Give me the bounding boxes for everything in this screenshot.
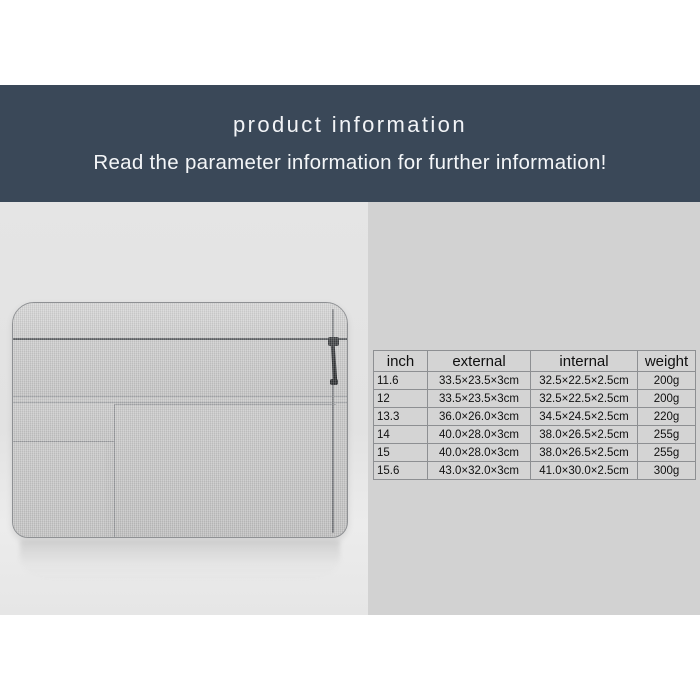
specification-table: inch external internal weight 11.6 33.5×… [373,350,696,480]
cell-internal: 34.5×24.5×2.5cm [531,408,638,426]
cell-external: 40.0×28.0×3cm [428,426,531,444]
cell-internal: 32.5×22.5×2.5cm [531,390,638,408]
cell-inch: 13.3 [374,408,428,426]
cell-internal: 32.5×22.5×2.5cm [531,372,638,390]
table-row: 15.6 43.0×32.0×3cm 41.0×30.0×2.5cm 300g [374,462,696,480]
product-information-page: product information Read the parameter i… [0,0,700,700]
table-row: 13.3 36.0×26.0×3cm 34.5×24.5×2.5cm 220g [374,408,696,426]
cell-external: 40.0×28.0×3cm [428,444,531,462]
column-header-inch: inch [374,351,428,372]
cell-internal: 41.0×30.0×2.5cm [531,462,638,480]
page-subtitle: Read the parameter information for furth… [93,151,606,176]
table-row: 14 40.0×28.0×3cm 38.0×26.5×2.5cm 255g [374,426,696,444]
cell-external: 33.5×23.5×3cm [428,390,531,408]
cell-inch: 14 [374,426,428,444]
specification-panel: inch external internal weight 11.6 33.5×… [368,202,700,615]
sleeve-top-band [13,303,347,340]
table-header-row: inch external internal weight [374,351,696,372]
column-header-internal: internal [531,351,638,372]
cell-weight: 200g [638,390,696,408]
sleeve-small-pocket-lower [13,443,105,537]
sleeve-main-pocket [114,404,336,538]
cell-weight: 255g [638,444,696,462]
sleeve-small-pocket-upper [13,403,116,442]
cell-weight: 255g [638,426,696,444]
cell-external: 33.5×23.5×3cm [428,372,531,390]
product-photo-panel [0,202,368,615]
column-header-weight: weight [638,351,696,372]
content-row: inch external internal weight 11.6 33.5×… [0,202,700,615]
laptop-sleeve-image [12,302,348,538]
cell-internal: 38.0×26.5×2.5cm [531,444,638,462]
column-header-external: external [428,351,531,372]
cell-external: 36.0×26.0×3cm [428,408,531,426]
cell-weight: 220g [638,408,696,426]
page-title: product information [233,112,467,138]
zipper-pull-end-icon [330,379,338,385]
table-row: 12 33.5×23.5×3cm 32.5×22.5×2.5cm 200g [374,390,696,408]
sleeve-reflection [20,540,340,582]
cell-inch: 15.6 [374,462,428,480]
cell-weight: 200g [638,372,696,390]
banner: product information Read the parameter i… [0,85,700,202]
cell-weight: 300g [638,462,696,480]
cell-external: 43.0×32.0×3cm [428,462,531,480]
table-row: 11.6 33.5×23.5×3cm 32.5×22.5×2.5cm 200g [374,372,696,390]
cell-internal: 38.0×26.5×2.5cm [531,426,638,444]
cell-inch: 11.6 [374,372,428,390]
table-row: 15 40.0×28.0×3cm 38.0×26.5×2.5cm 255g [374,444,696,462]
sleeve-front-pocket [13,342,347,397]
cell-inch: 12 [374,390,428,408]
cell-inch: 15 [374,444,428,462]
